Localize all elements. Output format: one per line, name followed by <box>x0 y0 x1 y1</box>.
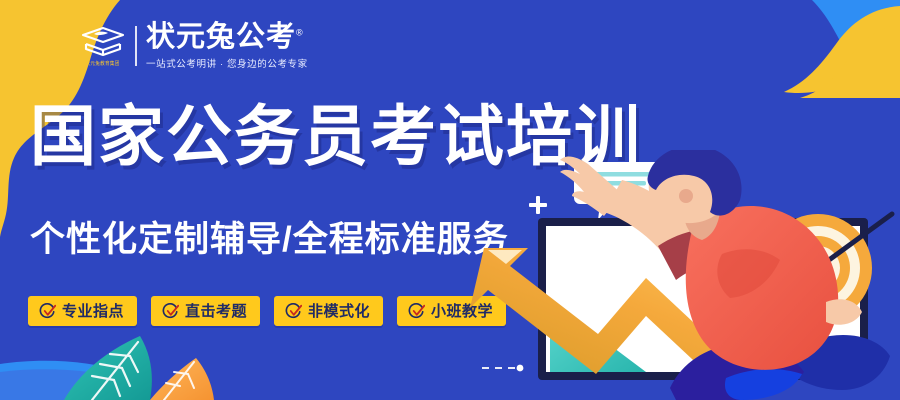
feature-tag-0[interactable]: 专业指点 <box>28 296 137 326</box>
graduation-cap-book-glyph <box>80 25 126 59</box>
feature-tag-label: 专业指点 <box>62 304 124 319</box>
graduation-cap-book-icon: 状元兔教育集团 <box>78 20 128 72</box>
logo-slogan: 一站式公考明讲 · 您身边的公考专家 <box>146 56 308 70</box>
feature-tag-label: 非模式化 <box>308 304 370 319</box>
logo-brand-name-text: 状元兔公考 <box>146 21 296 53</box>
person-ear <box>679 189 693 203</box>
logo-divider <box>135 26 137 66</box>
hero-illustration-svg <box>470 150 900 400</box>
registered-trademark-icon: ® <box>296 27 304 37</box>
feature-tag-list: 专业指点 直击考题 非模式化 小班教学 <box>28 296 506 326</box>
check-circle-icon <box>284 302 302 320</box>
page-subtitle: 个性化定制辅导/全程标准服务 <box>30 222 509 257</box>
check-circle-icon <box>407 302 425 320</box>
connector-dot <box>517 365 524 372</box>
logo-emblem-caption: 状元兔教育集团 <box>86 60 120 67</box>
feature-tag-2[interactable]: 非模式化 <box>274 296 383 326</box>
check-circle-icon <box>38 302 56 320</box>
brand-logo[interactable]: 状元兔教育集团 状元兔公考® 一站式公考明讲 · 您身边的公考专家 <box>78 18 308 74</box>
promo-banner: 状元兔教育集团 状元兔公考® 一站式公考明讲 · 您身边的公考专家 国家公务员考… <box>0 0 900 400</box>
logo-brand-name: 状元兔公考® <box>146 22 308 52</box>
plus-sign-icon <box>529 196 547 214</box>
feature-tag-label: 直击考题 <box>185 304 247 319</box>
check-circle-icon <box>161 302 179 320</box>
feature-tag-1[interactable]: 直击考题 <box>151 296 260 326</box>
logo-text-block: 状元兔公考® 一站式公考明讲 · 您身边的公考专家 <box>146 22 308 70</box>
hero-illustration <box>470 150 900 400</box>
